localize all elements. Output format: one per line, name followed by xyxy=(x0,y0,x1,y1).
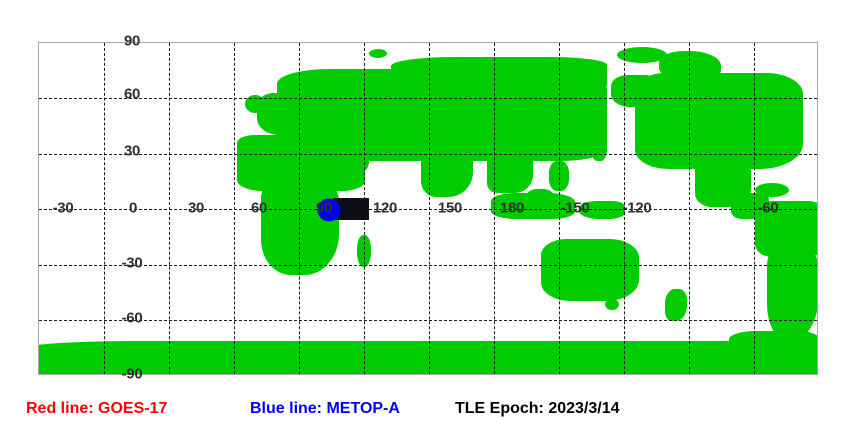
lon-label-150: 150 xyxy=(438,200,462,217)
land-caribbean xyxy=(755,183,789,197)
land-south-america-south xyxy=(767,249,818,341)
gridline-lat-60 xyxy=(39,98,817,99)
lon-label--60: -60 xyxy=(758,200,779,217)
lat-label-30: 30 xyxy=(124,143,140,160)
land-svalbard xyxy=(369,49,387,58)
legend-red-line: Red line: GOES-17 xyxy=(26,400,167,418)
gridline-lat--60 xyxy=(39,320,817,321)
land-antarctic-peninsula xyxy=(729,331,818,359)
land-antarctica xyxy=(38,341,818,375)
lat-label-90: 90 xyxy=(124,33,140,50)
gridline-lat-0 xyxy=(39,209,817,210)
land-scandinavia xyxy=(293,71,341,105)
satellite-ground-track-map: -30 0 30 60 90 120 150 180 -150 -120 -60… xyxy=(0,0,850,388)
lon-label-120: 120 xyxy=(373,200,397,217)
lon-label-60: 60 xyxy=(251,200,267,217)
lon-label--30: -30 xyxy=(53,200,74,217)
gridline-lat--30 xyxy=(39,265,817,266)
map-plot-area[interactable] xyxy=(38,42,818,375)
land-kamchatka xyxy=(573,87,599,123)
gridline-lat-30 xyxy=(39,154,817,155)
land-japan xyxy=(591,131,607,161)
lon-label--150: -150 xyxy=(561,200,590,217)
land-new-zealand xyxy=(665,289,687,321)
lon-label-90: 90 xyxy=(316,200,332,217)
lat-label--30: -30 xyxy=(122,255,143,272)
land-tasmania xyxy=(605,299,619,310)
lon-label-30: 30 xyxy=(188,200,204,217)
lon-label--120: -120 xyxy=(623,200,652,217)
lat-label--90: -90 xyxy=(122,366,143,383)
lon-label-0: 0 xyxy=(129,200,137,217)
lat-label--60: -60 xyxy=(122,310,143,327)
lat-label-60: 60 xyxy=(124,86,140,103)
legend-tle-epoch: TLE Epoch: 2023/3/14 xyxy=(455,400,620,418)
land-siberia-north xyxy=(391,57,607,87)
legend-blue-line: Blue line: METOP-A xyxy=(250,400,400,418)
legend-bar: Red line: GOES-17 Blue line: METOP-A TLE… xyxy=(0,392,850,425)
land-africa-south xyxy=(261,181,339,275)
land-alaska xyxy=(611,75,659,107)
lon-label-180: 180 xyxy=(500,200,524,217)
